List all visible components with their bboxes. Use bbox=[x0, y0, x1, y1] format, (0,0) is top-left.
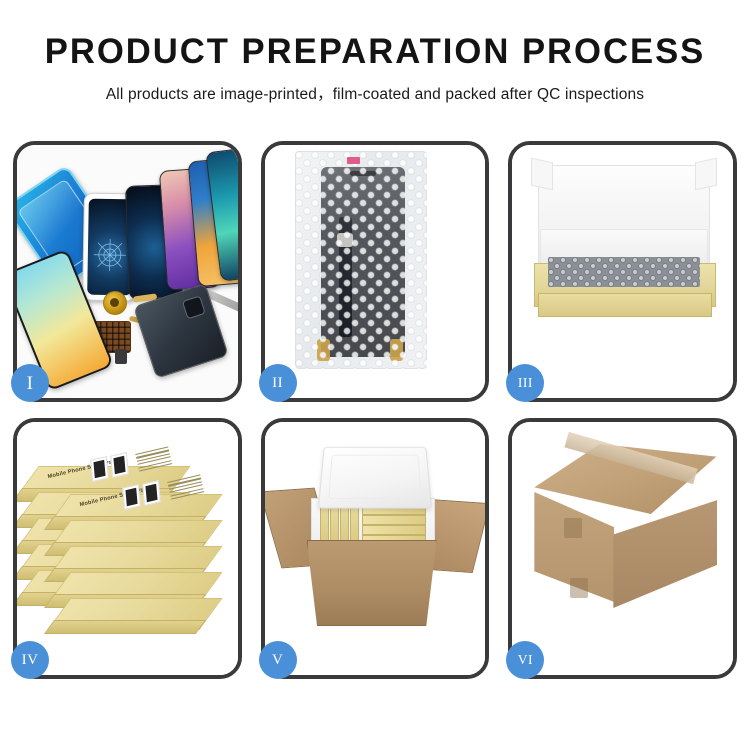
process-step-panel-2: II bbox=[261, 141, 490, 402]
box-side-face bbox=[44, 620, 206, 634]
step-5-image bbox=[265, 422, 486, 675]
step-2-image bbox=[265, 145, 486, 398]
stacked-box-front-2 bbox=[59, 520, 209, 546]
carton-tab-upper bbox=[564, 518, 582, 538]
box-thumbnail-front-2 bbox=[142, 480, 161, 506]
copper-coil-part bbox=[103, 291, 127, 315]
bubble-wrap-bag bbox=[295, 151, 427, 369]
stacked-boxes-illustration: Mobile Phone Spare Parts bbox=[17, 422, 238, 675]
carton-right-face bbox=[613, 500, 717, 608]
step-6-image bbox=[512, 422, 733, 675]
battery-connector-part bbox=[115, 349, 127, 364]
carton-body bbox=[307, 540, 437, 626]
process-step-panel-5: V bbox=[261, 418, 490, 679]
step-3-image bbox=[512, 145, 733, 398]
stacked-box-front-4 bbox=[59, 572, 209, 598]
box-thumbnail-front-1 bbox=[122, 484, 141, 510]
yellow-box-horizontal-3 bbox=[362, 525, 426, 535]
bubble-wrapped-screen-illustration bbox=[265, 145, 486, 398]
step-badge-5: V bbox=[259, 641, 297, 679]
process-step-panel-6: VI bbox=[508, 418, 737, 679]
process-step-panel-3: III bbox=[508, 141, 737, 402]
packed-carton-illustration bbox=[265, 422, 486, 675]
stacked-box-front-3 bbox=[59, 546, 209, 572]
step-badge-1: I bbox=[11, 364, 49, 402]
bubble-wrapped-contents bbox=[548, 257, 700, 287]
yellow-box-front-edge bbox=[538, 293, 712, 317]
sealed-carton-illustration bbox=[512, 422, 733, 675]
stacked-box-front-5 bbox=[59, 598, 209, 624]
process-step-panel-1: I bbox=[13, 141, 242, 402]
box-thumbnail-back-2 bbox=[110, 452, 129, 478]
page-title: PRODUCT PREPARATION PROCESS bbox=[4, 34, 747, 69]
box-thumbnail-back-1 bbox=[90, 456, 109, 482]
header: PRODUCT PREPARATION PROCESS All products… bbox=[0, 0, 750, 104]
process-step-panel-4: Mobile Phone Spare Parts bbox=[13, 418, 242, 679]
yellow-box-horizontal-2 bbox=[362, 515, 426, 525]
process-steps-grid: I bbox=[13, 141, 737, 679]
phones-and-parts-illustration bbox=[17, 145, 238, 398]
step-4-image: Mobile Phone Spare Parts bbox=[17, 422, 238, 675]
pink-qc-label bbox=[347, 157, 360, 164]
open-kraft-box-illustration bbox=[512, 145, 733, 398]
carton-tab-lower bbox=[570, 578, 588, 598]
cracked-glass-icon bbox=[90, 235, 131, 276]
step-badge-2: II bbox=[259, 364, 297, 402]
product-preparation-infographic: PRODUCT PREPARATION PROCESS All products… bbox=[0, 0, 750, 750]
bubble-texture-overlay bbox=[295, 151, 427, 369]
step-1-image bbox=[17, 145, 238, 398]
box-stack: Mobile Phone Spare Parts bbox=[25, 436, 225, 636]
page-subtitle: All products are image-printed，film-coat… bbox=[0, 82, 750, 104]
step-badge-4: IV bbox=[11, 641, 49, 679]
foam-lid bbox=[318, 447, 432, 509]
